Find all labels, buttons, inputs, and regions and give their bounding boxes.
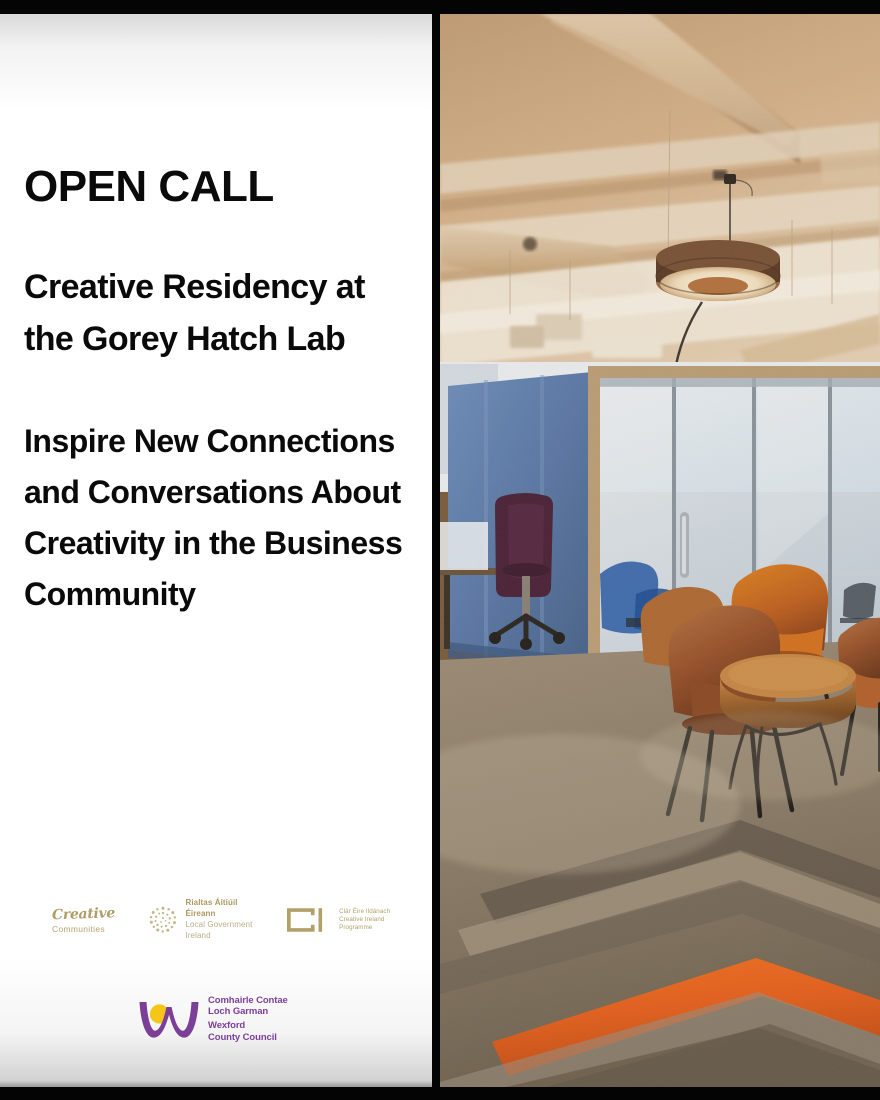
wexford-irish-line1: Comhairle Contae bbox=[208, 995, 288, 1006]
poster-root: OPEN CALL Creative Residency at the Gore… bbox=[0, 0, 880, 1100]
office-photo-illustration bbox=[440, 14, 880, 1100]
letterbox-bar-top bbox=[0, 0, 880, 14]
wexford-english-line1: Wexford bbox=[208, 1020, 288, 1031]
headline-open-call: OPEN CALL bbox=[24, 164, 416, 210]
lgi-english-text: Local Government Ireland bbox=[185, 920, 269, 942]
wexford-irish-line2: Loch Garman bbox=[208, 1006, 288, 1017]
ci-english-text: Creative Ireland bbox=[339, 916, 390, 924]
ci-irish-text: Clár Éire Ildánach bbox=[339, 908, 390, 916]
subheadline-residency: Creative Residency at the Gorey Hatch La… bbox=[24, 262, 394, 365]
creative-ireland-wordmark: Clár Éire Ildánach Creative Ireland Prog… bbox=[339, 908, 390, 932]
text-panel: OPEN CALL Creative Residency at the Gore… bbox=[0, 14, 432, 1087]
creative-ireland-logo: Clár Éire Ildánach Creative Ireland Prog… bbox=[285, 907, 402, 933]
wexford-english-line2: County Council bbox=[208, 1032, 288, 1043]
ci-programme-text: Programme bbox=[339, 924, 390, 932]
local-government-ireland-logo: Rialtas Áitiúil Éireann Local Government… bbox=[148, 898, 269, 941]
funder-logo-row: Creative Communities bbox=[52, 898, 402, 942]
wexford-wordmark: Comhairle Contae Loch Garman Wexford Cou… bbox=[208, 995, 288, 1043]
creative-communities-sans-text: Communities bbox=[52, 925, 132, 934]
creative-ireland-ci-mark-icon bbox=[285, 907, 331, 933]
creative-communities-logo: Creative Communities bbox=[52, 907, 132, 934]
letterbox-bar-bottom bbox=[0, 1087, 880, 1100]
panel-gutter bbox=[432, 14, 440, 1100]
text-stack: OPEN CALL Creative Residency at the Gore… bbox=[24, 164, 416, 620]
creative-communities-script-text: Creative bbox=[52, 905, 133, 922]
body-statement: Inspire New Connections and Conversation… bbox=[24, 416, 416, 621]
lgi-irish-text: Rialtas Áitiúil Éireann bbox=[185, 898, 269, 920]
lgi-wordmark: Rialtas Áitiúil Éireann Local Government… bbox=[185, 898, 269, 941]
wexford-county-council-logo: Comhairle Contae Loch Garman Wexford Cou… bbox=[138, 995, 288, 1043]
wexford-w-wave-icon bbox=[138, 996, 200, 1042]
office-photo bbox=[440, 14, 880, 1100]
dotted-circle-icon bbox=[148, 905, 178, 935]
